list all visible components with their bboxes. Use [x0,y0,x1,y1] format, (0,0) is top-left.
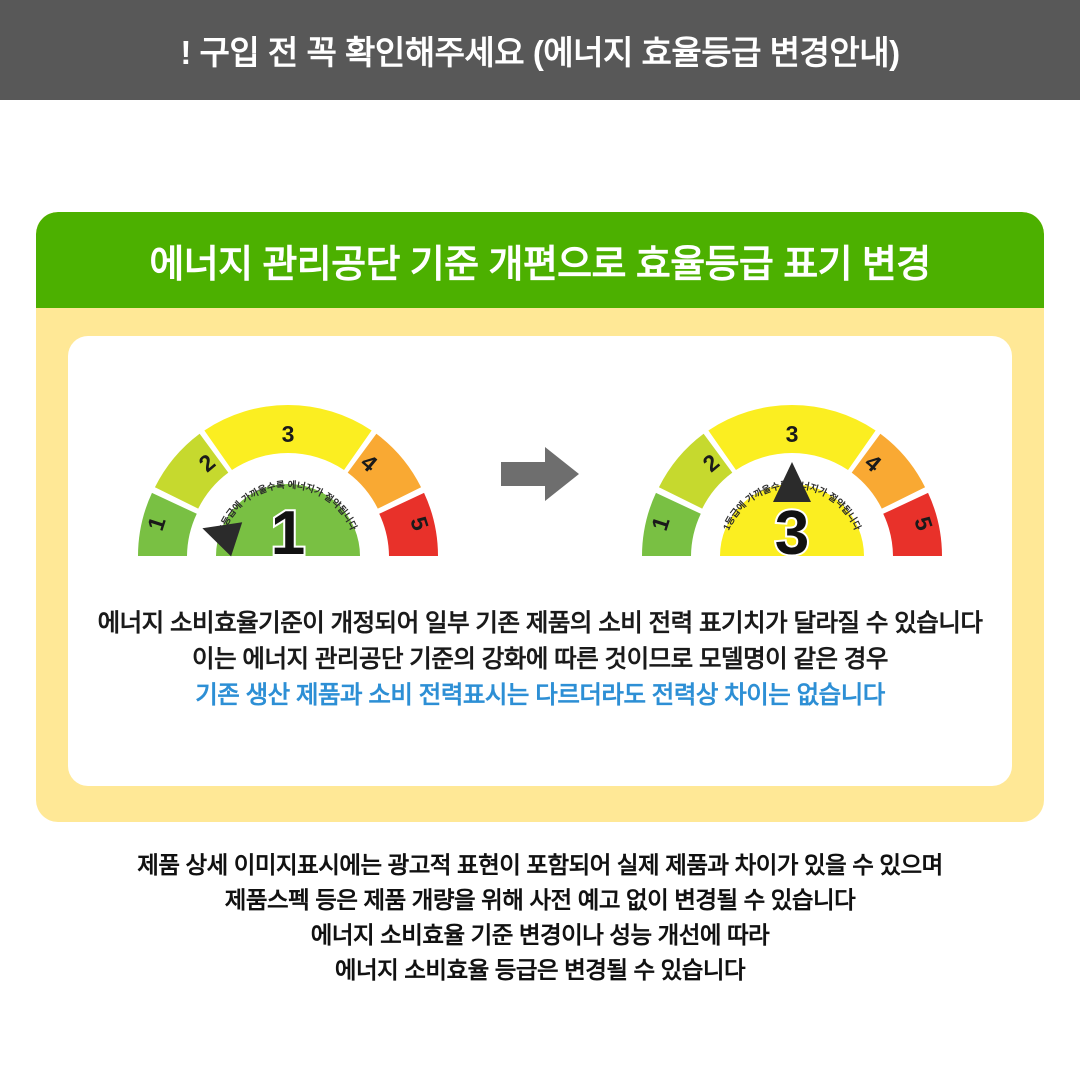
notice-body-text: 에너지 소비효율기준이 개정되어 일부 기존 제품의 소비 전력 표기치가 달라… [68,606,1012,714]
energy-gauge-after: 1 2 3 4 5 1등급에 가까울수록 에너지가 절약됩니다 3 [632,374,952,574]
energy-notice-panel: 에너지 관리공단 기준 개편으로 효율등급 표기 변경 [36,212,1044,822]
transition-arrow [496,374,584,574]
notice-banner-title: 에너지 관리공단 기준 개편으로 효율등급 표기 변경 [149,233,930,288]
energy-gauge-before: 1 2 3 4 5 1등급에 가까울수록 에너지가 절약됩니다 1 [128,374,448,574]
gauge-grade-value-after: 3 [775,499,809,568]
notice-body-line-1: 에너지 소비효율기준이 개정되어 일부 기존 제품의 소비 전력 표기치가 달라… [68,606,1012,642]
right-arrow-icon [501,445,579,503]
gauge-after-svg: 1 2 3 4 5 1등급에 가까울수록 에너지가 절약됩니다 3 [632,374,952,574]
disclaimer-line-3: 에너지 소비효율 기준 변경이나 성능 개선에 따라 [0,918,1080,953]
gauge-segment-label-3: 3 [786,421,799,447]
disclaimer-line-2: 제품스펙 등은 제품 개량을 위해 사전 예고 없이 변경될 수 있습니다 [0,883,1080,918]
disclaimer-line-1: 제품 상세 이미지표시에는 광고적 표현이 포함되어 실제 제품과 차이가 있을… [0,848,1080,883]
gauge-segment-label-3: 3 [282,421,295,447]
gauge-grade-value-before: 1 [271,499,305,568]
notice-card: 1 2 3 4 5 1등급에 가까울수록 에너지가 절약됩니다 1 [68,336,1012,786]
page-header-bar: ! 구입 전 꼭 확인해주세요 (에너지 효율등급 변경안내) [0,0,1080,100]
gauge-before-svg: 1 2 3 4 5 1등급에 가까울수록 에너지가 절약됩니다 1 [128,374,448,574]
grade-comparison-row: 1 2 3 4 5 1등급에 가까울수록 에너지가 절약됩니다 1 [68,354,1012,594]
notice-body-line-2: 이는 에너지 관리공단 기준의 강화에 따른 것이므로 모델명이 같은 경우 [68,642,1012,678]
disclaimer-line-4: 에너지 소비효율 등급은 변경될 수 있습니다 [0,953,1080,988]
disclaimer-text: 제품 상세 이미지표시에는 광고적 표현이 포함되어 실제 제품과 차이가 있을… [0,848,1080,988]
page-title: ! 구입 전 꼭 확인해주세요 (에너지 효율등급 변경안내) [180,26,899,74]
notice-banner: 에너지 관리공단 기준 개편으로 효율등급 표기 변경 [36,212,1044,308]
notice-body-line-3: 기존 생산 제품과 소비 전력표시는 다르더라도 전력상 차이는 없습니다 [68,678,1012,714]
